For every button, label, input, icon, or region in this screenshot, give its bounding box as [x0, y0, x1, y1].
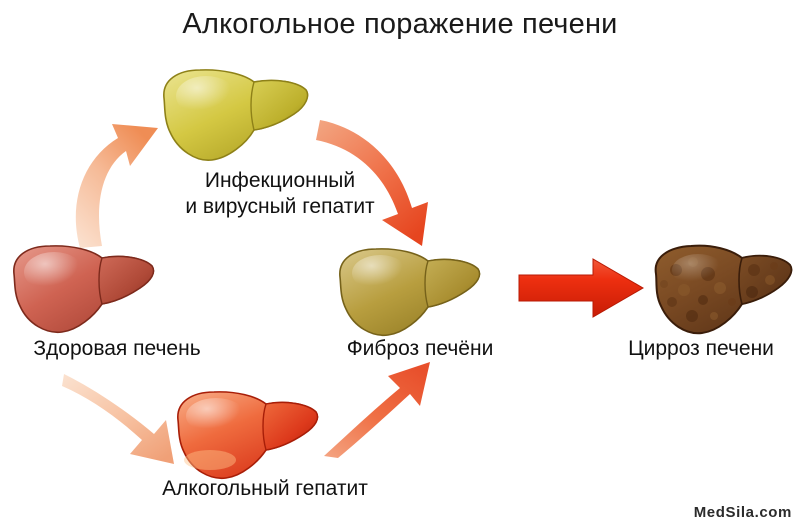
liver-figure-alcoholic-hepatitis [170, 386, 322, 484]
liver-figure-healthy [6, 240, 158, 340]
stage-label-viral-hepatitis: Инфекционный и вирусный гепатит [120, 168, 440, 220]
arrow-fibrosis-to-cirrhosis [519, 257, 643, 319]
liver-figure-fibrosis [332, 243, 484, 341]
diagram-canvas: Алкогольное поражение печени [0, 0, 800, 526]
liver-figure-viral-hepatitis [154, 62, 314, 168]
stage-label-cirrhosis: Цирроз печени [602, 336, 800, 362]
page-title: Алкогольное поражение печени [0, 8, 800, 41]
watermark: MedSila.com [694, 504, 792, 521]
liver-figure-cirrhosis [648, 240, 794, 340]
stage-label-alcoholic-hepatitis: Алкогольный гепатит [110, 476, 420, 502]
arrow-alcoholic-hepatitis-to-fibrosis [322, 358, 432, 458]
stage-label-viral-hepatitis-line2: и вирусный гепатит [120, 194, 440, 220]
stage-label-healthy: Здоровая печень [0, 336, 234, 362]
stage-label-fibrosis: Фиброз печёни [300, 336, 540, 362]
stage-label-viral-hepatitis-line1: Инфекционный [120, 168, 440, 194]
